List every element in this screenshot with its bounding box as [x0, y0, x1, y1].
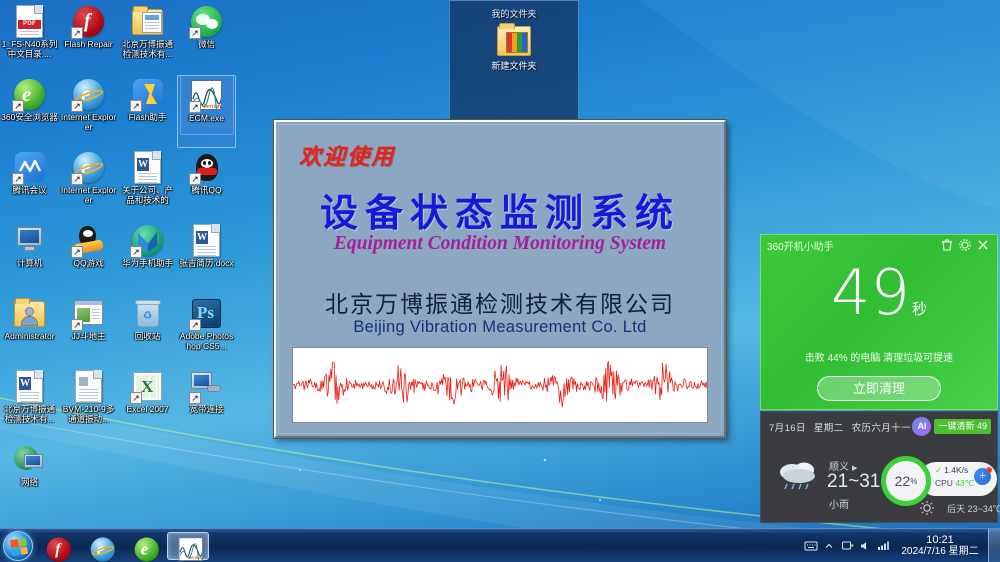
desktop-icon-label: 张吉简历.docx	[178, 259, 236, 269]
desktop-icon-qq-games[interactable]: QQ游戏	[59, 221, 118, 294]
ecm-exe-icon: bertion	[190, 79, 223, 112]
huawei-phone-assistant-icon	[131, 224, 164, 257]
welcome-text: 欢迎使用	[299, 139, 395, 171]
shortcut-arrow-icon	[71, 27, 83, 39]
desktop-icon-label: BVM-210-9多通道振动...	[60, 405, 118, 424]
desktop-icon-jj-paihang[interactable]: JJ斗地主	[59, 294, 118, 367]
photoshop-cs5-icon: Ps	[190, 297, 223, 330]
desktop-icon-flash-repair[interactable]: fFlash Repair	[59, 2, 118, 75]
taskbar-flash[interactable]: f	[35, 532, 77, 560]
desktop-icon-label: 360安全浏览器	[1, 113, 59, 123]
recycle-bin-icon: ♻	[131, 297, 164, 330]
weather-date-row: 7月16日 星期二 农历六月十一 AI 一键清新 49	[761, 412, 997, 436]
desktop-icon-excel-2007[interactable]: XExcel 2007	[118, 367, 177, 440]
add-button[interactable]: +	[974, 468, 991, 485]
clean-now-button[interactable]: 立即清理	[817, 376, 941, 401]
jj-paihang-icon	[72, 297, 105, 330]
clock-time: 10:21	[894, 534, 986, 546]
desktop-icon-photoshop-cs5[interactable]: PsAdobe Photoshop CS5...	[177, 294, 236, 367]
desktop-icon-network[interactable]: 网络	[0, 440, 59, 513]
desktop-icon-label: 华为手机助手	[119, 259, 177, 269]
360-boot-assistant-widget[interactable]: 360开机小助手 49秒 击败 44% 的电脑 清理垃圾可提速 立即清理	[760, 234, 998, 410]
shortcut-arrow-icon	[12, 100, 24, 112]
show-hidden-icons-icon[interactable]	[820, 533, 838, 559]
weather-temp-range: 21~31	[827, 471, 880, 493]
taskbar-buttons: feebertion	[33, 532, 209, 560]
desktop-icon-bvm-company-doc[interactable]: W北京万博振通检测技术有...	[0, 367, 59, 440]
company-intro-doc-icon: W	[131, 151, 164, 184]
weather-status-widget[interactable]: 7月16日 星期二 农历六月十一 AI 一键清新 49 顺义▶ 21~31 小雨…	[760, 411, 998, 523]
shortcut-arrow-icon	[189, 173, 201, 185]
weather-weekday: 星期二	[814, 420, 844, 434]
shortcut-arrow-icon	[71, 246, 83, 258]
gear-icon[interactable]	[958, 238, 973, 253]
desktop-icon-huawei-phone-assistant[interactable]: 华为手机助手	[118, 221, 177, 294]
desktop-icon-label: QQ游戏	[60, 259, 118, 269]
desktop-icon-label: 腾讯QQ	[178, 186, 236, 196]
my-folder-panel[interactable]: 我的文件夹 新建文件夹	[449, 0, 579, 118]
desktop-icon-label: 微信	[178, 40, 236, 50]
taskbar-360-browser[interactable]: e	[123, 532, 165, 560]
folder-icon	[497, 26, 531, 56]
internet-explorer-icon: e	[72, 78, 105, 111]
desktop-icon-label: Flash Repair	[60, 40, 118, 50]
qq-games-icon	[72, 224, 105, 257]
360-widget-title: 360开机小助手	[767, 238, 937, 253]
desktop-icon-label: 关于公司、产品和技术的介...	[119, 186, 177, 206]
svg-text:bertion: bertion	[189, 556, 203, 561]
taskbar-internet-explorer[interactable]: e	[79, 532, 121, 560]
taskbar-360-browser-icon: e	[135, 536, 154, 555]
shortcut-arrow-icon	[130, 246, 142, 258]
taskbar-ecm[interactable]: bertion	[167, 532, 209, 560]
splash-inner: 欢迎使用 设备状态监测系统 Equipment Condition Monito…	[278, 124, 722, 434]
wechat-icon	[190, 5, 223, 38]
shortcut-arrow-icon	[189, 27, 201, 39]
taskbar-flash-icon: f	[47, 536, 66, 555]
memory-gauge[interactable]: 22%	[881, 456, 931, 506]
bvm-folder-icon	[131, 5, 164, 38]
boot-time-unit: 秒	[912, 300, 927, 318]
clock[interactable]: 10:21 2024/7/16 星期二	[894, 534, 986, 558]
administrator-folder-icon	[13, 297, 46, 330]
tomorrow-forecast: 后天 23~34℃	[947, 502, 1000, 515]
desktop-icon-label: Flash助手	[119, 113, 177, 123]
360-widget-header: 360开机小助手	[761, 235, 997, 255]
clean-tag[interactable]: 一键清新 49	[934, 419, 991, 434]
desktop-icon-label: Internet Explorer	[60, 113, 118, 132]
rain-cloud-icon	[775, 458, 823, 492]
desktop-icon-pdf-document[interactable]: PDF1_FS-N40系列中文目录....	[0, 2, 59, 75]
desktop-icon-ecm-exe[interactable]: bertionECM.exe	[177, 75, 236, 148]
trash-icon[interactable]	[940, 238, 955, 253]
new-folder-label: 新建文件夹	[491, 59, 536, 72]
desktop-icon-label: Administrator	[1, 332, 59, 342]
excel-2007-icon: X	[131, 370, 164, 403]
pdf-document-icon: PDF	[13, 5, 46, 38]
taskbar: feebertion 10:21 2024/7/16 星期二	[0, 528, 1000, 562]
desktop-icon-360-browser[interactable]: e360安全浏览器	[0, 75, 59, 148]
shortcut-arrow-icon	[71, 319, 83, 331]
desktop-icon-label: 宽带连接	[178, 405, 236, 415]
system-title-cn: 设备状态监测系统	[279, 182, 721, 237]
vibration-waveform-panel	[292, 347, 708, 423]
360-browser-icon: e	[13, 78, 46, 111]
shortcut-arrow-icon	[12, 173, 24, 185]
desktop-icon-label: ECM.exe	[178, 114, 236, 124]
desktop-icon-bvm-210-9-doc[interactable]: BVM-210-9多通道振动...	[59, 367, 118, 440]
network-icon	[13, 443, 46, 476]
desktop-icon-label: JJ斗地主	[60, 332, 118, 342]
desktop-icon-internet-explorer[interactable]: eInternet Explorer	[59, 75, 118, 148]
desktop-icon-broadband-connection[interactable]: 宽带连接	[177, 367, 236, 440]
desktop-icon-internet-explorer-2[interactable]: eInternet Explorer	[59, 148, 118, 221]
shortcut-arrow-icon	[130, 392, 142, 404]
splash-window[interactable]: 欢迎使用 设备状态监测系统 Equipment Condition Monito…	[274, 120, 726, 438]
desktop-icon-wechat[interactable]: 微信	[177, 2, 236, 75]
taskbar-internet-explorer-icon: e	[91, 536, 110, 555]
volume-icon[interactable]	[856, 533, 874, 559]
shortcut-arrow-icon	[189, 319, 201, 331]
taskbar-ecm-icon: bertion	[179, 536, 198, 555]
360-subtitle: 击败 44% 的电脑 清理垃圾可提速	[761, 349, 997, 364]
shortcut-arrow-icon	[189, 392, 201, 404]
company-name-cn: 北京万博振通检测技术有限公司	[279, 285, 721, 319]
desktop-icon-label: Excel 2007	[119, 405, 177, 415]
vibration-waveform	[293, 348, 707, 422]
shortcut-arrow-icon	[71, 100, 83, 112]
desktop-icon-tencent-meeting[interactable]: 腾讯会议	[0, 148, 59, 221]
flash-helper-icon	[131, 78, 164, 111]
system-tray	[802, 529, 894, 562]
start-button[interactable]	[3, 531, 33, 561]
shortcut-arrow-icon	[189, 101, 201, 113]
svg-text:bertion: bertion	[204, 104, 221, 110]
desktop-icon-computer[interactable]: 计算机	[0, 221, 59, 294]
desktop-icon-administrator-folder[interactable]: Administrator	[0, 294, 59, 367]
desktop-icon-label: 计算机	[1, 259, 59, 269]
close-icon[interactable]	[976, 238, 991, 253]
sun-icon	[919, 500, 935, 516]
bvm-company-doc-icon: W	[13, 370, 46, 403]
windows-logo-icon	[10, 537, 28, 555]
tencent-qq-icon	[190, 151, 223, 184]
ai-badge[interactable]: AI	[912, 417, 931, 436]
desktop-icon-label: 网络	[1, 478, 59, 488]
broadband-connection-icon	[190, 370, 223, 403]
shortcut-arrow-icon	[130, 100, 142, 112]
weather-lunar: 农历六月十一	[852, 420, 911, 434]
system-title-en: Equipment Condition Monitoring System	[279, 233, 721, 255]
desktop-icon-label: 回收站	[119, 332, 177, 342]
desktop-icon-label: 北京万博振通检测技术有...	[1, 405, 59, 424]
clock-date: 2024/7/16 星期二	[894, 546, 986, 558]
my-folder-title: 我的文件夹	[450, 1, 578, 20]
flash-repair-icon: f	[72, 5, 105, 38]
safely-remove-hardware-icon[interactable]	[838, 533, 856, 559]
weather-condition: 小雨	[829, 496, 849, 511]
desktop-icon-flash-helper[interactable]: Flash助手	[118, 75, 177, 148]
shortcut-arrow-icon	[71, 173, 83, 185]
desktop-icon-tencent-qq[interactable]: 腾讯QQ	[177, 148, 236, 221]
desktop-icon-grid: PDF1_FS-N40系列中文目录....fFlash Repair北京万博振通…	[0, 2, 236, 513]
desktop-icon-label: Adobe Photoshop CS5...	[178, 332, 236, 351]
desktop-icon-bvm-folder[interactable]: 北京万博振通检测技术有...	[118, 2, 177, 75]
desktop-icon-company-intro-doc[interactable]: W关于公司、产品和技术的介...	[118, 148, 177, 221]
new-folder-item[interactable]: 新建文件夹	[450, 26, 578, 72]
keyboard-icon[interactable]	[802, 533, 820, 559]
bvm-210-9-doc-icon	[72, 370, 105, 403]
network-icon[interactable]	[874, 533, 892, 559]
show-desktop-button[interactable]	[988, 529, 1000, 562]
desktop-icon-label: 1_FS-N40系列中文目录....	[1, 40, 59, 59]
desktop-icon-label: 腾讯会议	[1, 186, 59, 196]
desktop-icon-label: 北京万博振通检测技术有...	[119, 40, 177, 59]
computer-icon	[13, 224, 46, 257]
boot-time-value: 49秒	[761, 263, 997, 339]
internet-explorer-2-icon: e	[72, 151, 105, 184]
desktop-icon-resume-docx[interactable]: W张吉简历.docx	[177, 221, 236, 294]
weather-body: 顺义▶ 21~31 小雨 ✓1.4K/s CPU 43℃ 22% + 后天 23…	[761, 436, 997, 522]
desktop-icon-recycle-bin[interactable]: ♻回收站	[118, 294, 177, 367]
resume-docx-icon: W	[190, 224, 223, 257]
check-icon: ✓	[935, 465, 942, 475]
company-name-en: Beijing Vibration Measurement Co. Ltd	[279, 318, 721, 337]
desktop-icon-label: Internet Explorer	[60, 186, 118, 205]
tencent-meeting-icon	[13, 151, 46, 184]
weather-date: 7月16日	[769, 420, 806, 434]
